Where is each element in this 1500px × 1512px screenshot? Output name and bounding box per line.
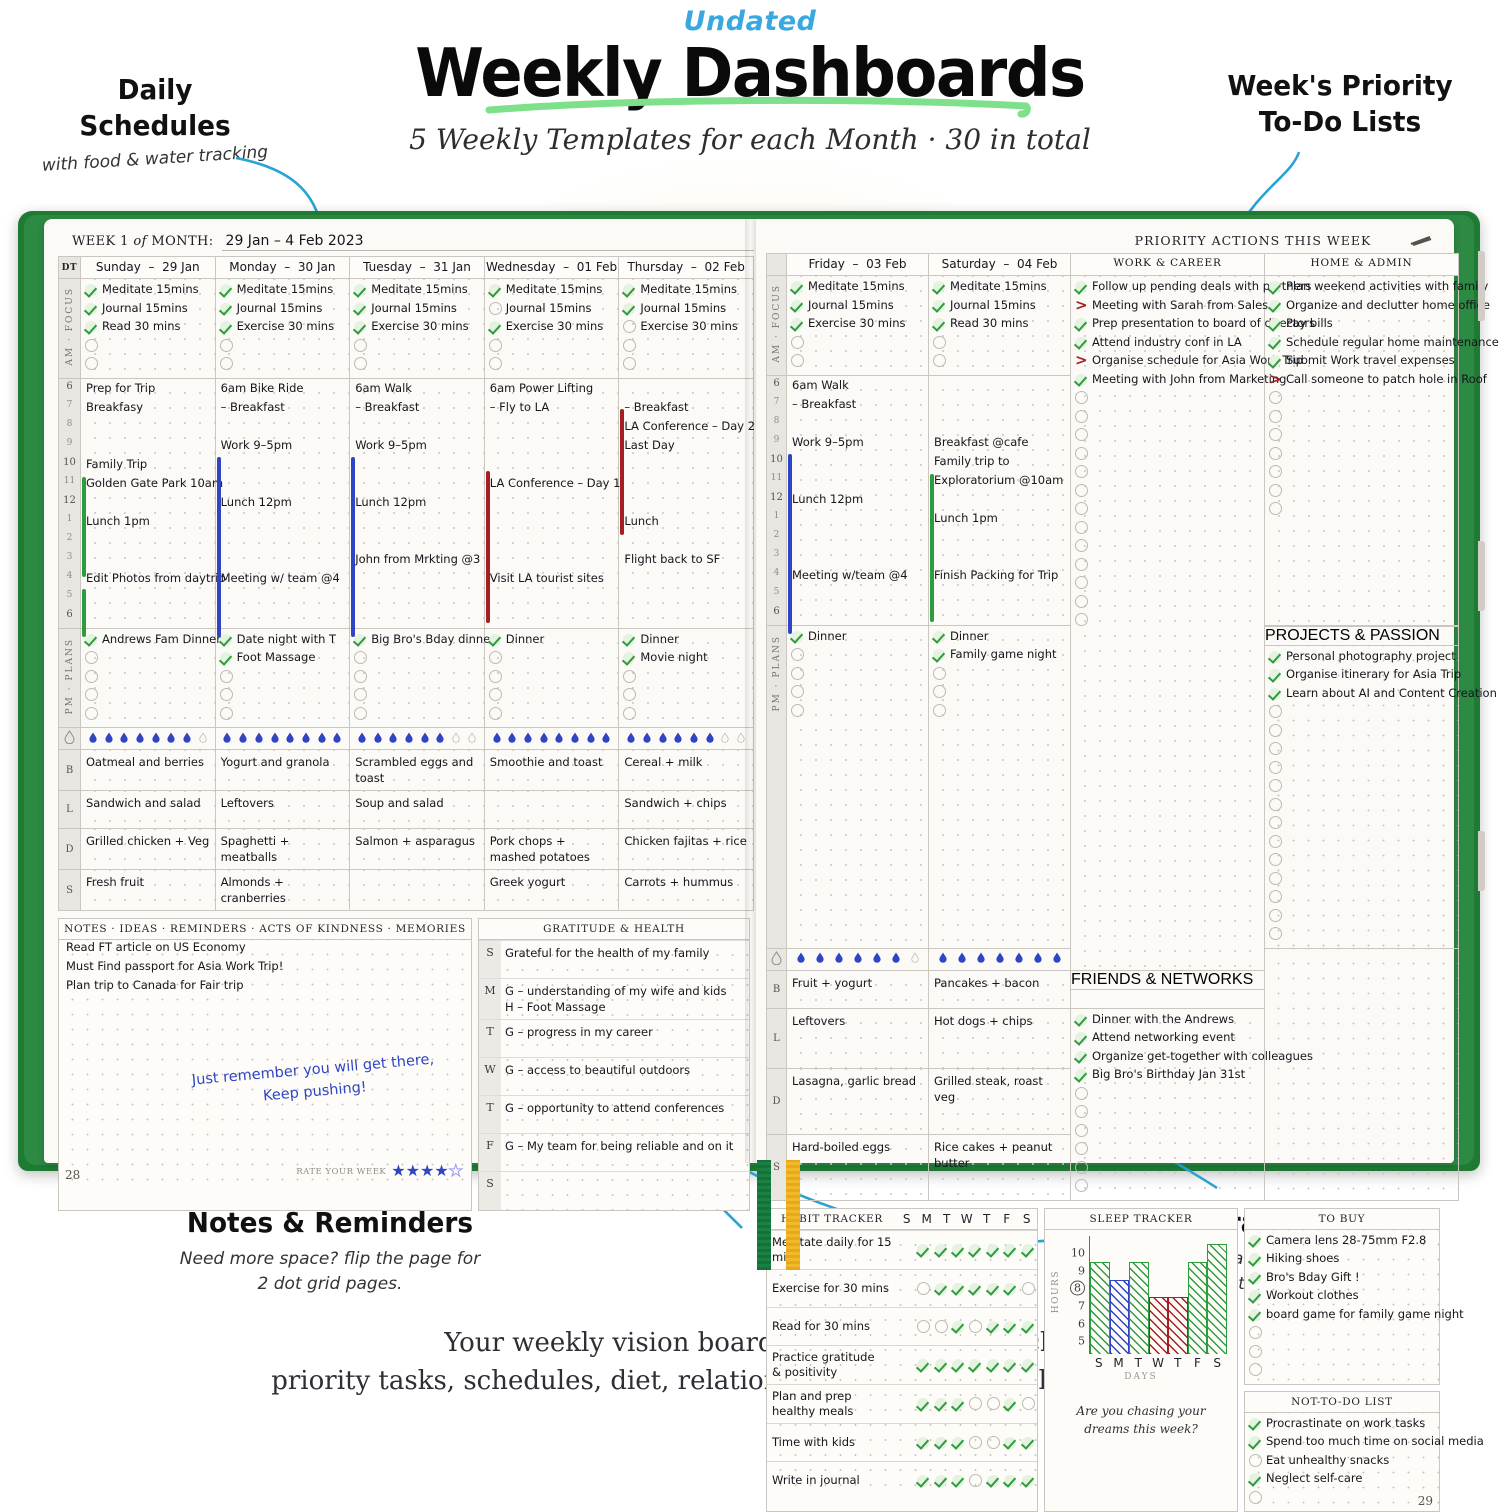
checkmark-icon[interactable] — [987, 1243, 1000, 1256]
meal-cell[interactable]: Yogurt and granola — [215, 750, 350, 791]
checklist-item[interactable] — [85, 669, 212, 688]
checklist-item[interactable]: Read 30 mins — [85, 319, 212, 338]
empty-checkbox-icon[interactable] — [1249, 1363, 1262, 1376]
checklist-item[interactable] — [791, 684, 925, 703]
checkmark-icon[interactable] — [220, 283, 233, 296]
schedule-cell[interactable]: Breakfast @cafeFamily trip toExploratori… — [929, 375, 1071, 625]
checklist-item[interactable] — [1075, 446, 1261, 465]
meal-cell[interactable]: Soup and salad — [350, 791, 485, 829]
water-drop-filled-icon[interactable] — [892, 952, 900, 963]
checkmark-icon[interactable] — [354, 320, 367, 333]
checkmark-icon[interactable] — [1004, 1436, 1017, 1449]
empty-checkbox-icon[interactable] — [791, 336, 804, 349]
checkmark-icon[interactable] — [489, 633, 502, 646]
water-drop-filled-icon[interactable] — [421, 732, 429, 743]
empty-checkbox-icon[interactable] — [1022, 1397, 1035, 1410]
checkmark-icon[interactable] — [791, 317, 804, 330]
checkmark-icon[interactable] — [1004, 1243, 1017, 1256]
checklist-item[interactable] — [489, 356, 616, 375]
page-tab[interactable] — [1478, 251, 1485, 321]
water-drop-filled-icon[interactable] — [405, 732, 413, 743]
checklist-item[interactable]: Procrastinate on work tasks — [1249, 1416, 1436, 1435]
checklist-item[interactable]: Andrews Fam Dinner — [85, 632, 212, 651]
checklist-item[interactable]: Dinner — [489, 632, 616, 651]
page-tab[interactable] — [1478, 831, 1485, 891]
empty-checkbox-icon[interactable] — [1269, 705, 1282, 718]
focus-cell[interactable]: Meditate 15minsJournal 15minsRead 30 min… — [81, 279, 216, 379]
checkmark-icon[interactable] — [952, 1320, 965, 1333]
checklist-item[interactable] — [933, 335, 1067, 354]
schedule-cell[interactable]: 6am Bike Ride– BreakfastWork 9–5pmLunch … — [215, 378, 350, 628]
checklist-item[interactable]: Organize get-together with colleagues — [1075, 1049, 1261, 1068]
habit-name[interactable]: Plan and prephealthy meals — [767, 1384, 915, 1423]
empty-checkbox-icon[interactable] — [489, 357, 502, 370]
priority-work-cell[interactable]: Follow up pending deals with partnersMee… — [1071, 276, 1265, 971]
checklist-item[interactable]: Organise schedule for Asia Work Trip — [1075, 353, 1261, 372]
checkmark-icon[interactable] — [952, 1243, 965, 1256]
checklist-item[interactable]: Schedule regular home maintenance — [1269, 335, 1455, 354]
empty-checkbox-icon[interactable] — [1075, 1161, 1088, 1174]
arrow-marker-icon[interactable] — [1075, 299, 1088, 312]
checklist-item[interactable] — [1075, 483, 1261, 502]
meal-cell[interactable]: Almonds + cranberries — [215, 870, 350, 911]
empty-checkbox-icon[interactable] — [969, 1474, 982, 1487]
empty-checkbox-icon[interactable] — [354, 670, 367, 683]
checkmark-icon[interactable] — [1075, 280, 1088, 293]
water-cell[interactable] — [81, 728, 216, 750]
pm-cell[interactable]: Big Bro's Bday dinner — [350, 628, 485, 728]
habit-marks[interactable] — [915, 1423, 1037, 1461]
checklist-item[interactable] — [933, 353, 1067, 372]
note-line[interactable]: Read FT article on US Economy — [59, 940, 471, 959]
water-drop-filled-icon[interactable] — [152, 732, 160, 743]
checklist-item[interactable] — [1249, 1344, 1436, 1363]
meal-cell[interactable]: Salmon + asparagus — [350, 829, 485, 870]
checkmark-icon[interactable] — [220, 651, 233, 664]
water-drop-filled-icon[interactable] — [555, 732, 563, 743]
checklist-item[interactable] — [1269, 723, 1455, 742]
empty-checkbox-icon[interactable] — [489, 707, 502, 720]
checklist-item[interactable]: Follow up pending deals with partners — [1075, 279, 1261, 298]
checklist-item[interactable] — [85, 706, 212, 725]
empty-checkbox-icon[interactable] — [1269, 909, 1282, 922]
meal-cell[interactable]: Pancakes + bacon — [929, 970, 1071, 1008]
water-drop-filled-icon[interactable] — [374, 732, 382, 743]
checklist-item[interactable] — [1269, 760, 1455, 779]
water-drop-filled-icon[interactable] — [302, 732, 310, 743]
checklist-item[interactable]: Call someone to patch hole in Roof — [1269, 372, 1455, 391]
checklist-item[interactable] — [489, 338, 616, 357]
rate-your-week[interactable]: RATE YOUR WEEK ★★★★★ — [296, 1163, 463, 1181]
checklist-item[interactable] — [791, 647, 925, 666]
water-drop-filled-icon[interactable] — [627, 732, 635, 743]
schedule-cell[interactable]: 6am Walk– BreakfastWork 9–5pmLunch 12pmM… — [787, 375, 929, 625]
checkmark-icon[interactable] — [935, 1474, 948, 1487]
checkmark-icon[interactable] — [1269, 317, 1282, 330]
empty-checkbox-icon[interactable] — [1269, 798, 1282, 811]
checklist-item[interactable]: Journal 15mins — [85, 301, 212, 320]
checklist-item[interactable]: Personal photography project — [1269, 649, 1455, 668]
checkmark-icon[interactable] — [1022, 1320, 1035, 1333]
checklist-item[interactable]: Dinner — [933, 629, 1067, 648]
checklist-item[interactable]: Family game night — [933, 647, 1067, 666]
empty-checkbox-icon[interactable] — [1269, 835, 1282, 848]
checklist-item[interactable]: Journal 15mins — [791, 298, 925, 317]
empty-checkbox-icon[interactable] — [1075, 1105, 1088, 1118]
checklist-item[interactable]: Meditate 15mins — [354, 282, 481, 301]
checklist-item[interactable] — [623, 356, 750, 375]
note-line[interactable]: Must Find passport for Asia Work Trip! — [59, 959, 471, 978]
checklist-item[interactable] — [220, 669, 347, 688]
empty-checkbox-icon[interactable] — [1269, 853, 1282, 866]
day-header-friday[interactable]: Friday – 03 Feb — [787, 254, 929, 276]
checklist-item[interactable] — [1269, 741, 1455, 760]
water-drop-filled-icon[interactable] — [120, 732, 128, 743]
pm-cell[interactable]: Dinner — [484, 628, 619, 728]
empty-checkbox-icon[interactable] — [791, 685, 804, 698]
checklist-item[interactable] — [220, 338, 347, 357]
checkmark-icon[interactable] — [1269, 336, 1282, 349]
checklist-item[interactable] — [791, 353, 925, 372]
day-header-sunday[interactable]: Sunday – 29 Jan — [81, 257, 216, 279]
checkmark-icon[interactable] — [1249, 1417, 1262, 1430]
day-header-wednesday[interactable]: Wednesday – 01 Feb — [484, 257, 619, 279]
water-drop-filled-icon[interactable] — [333, 732, 341, 743]
checklist-item[interactable] — [85, 356, 212, 375]
empty-checkbox-icon[interactable] — [1269, 502, 1282, 515]
empty-checkbox-icon[interactable] — [933, 667, 946, 680]
checklist-item[interactable]: Attend industry conf in LA — [1075, 335, 1261, 354]
priority-home-cell[interactable]: Plan weekend activities with familyOrgan… — [1265, 276, 1459, 626]
checklist-item[interactable]: Big Bro's Bday dinner — [354, 632, 481, 651]
checkmark-icon[interactable] — [917, 1397, 930, 1410]
checklist-item[interactable] — [85, 338, 212, 357]
water-cell[interactable] — [350, 728, 485, 750]
checkmark-icon[interactable] — [935, 1282, 948, 1295]
checklist-item[interactable]: Big Bro's Birthday Jan 31st — [1075, 1067, 1261, 1086]
water-drop-filled-icon[interactable] — [540, 732, 548, 743]
checkmark-icon[interactable] — [1269, 668, 1282, 681]
empty-checkbox-icon[interactable] — [1075, 521, 1088, 534]
checkmark-icon[interactable] — [489, 283, 502, 296]
checkmark-icon[interactable] — [1022, 1243, 1035, 1256]
empty-checkbox-icon[interactable] — [791, 648, 804, 661]
checklist-item[interactable] — [1269, 446, 1455, 465]
checklist-item[interactable] — [1075, 557, 1261, 576]
checklist-item[interactable] — [1075, 1123, 1261, 1142]
empty-checkbox-icon[interactable] — [1269, 872, 1282, 885]
empty-checkbox-icon[interactable] — [623, 357, 636, 370]
checkmark-icon[interactable] — [969, 1282, 982, 1295]
checkmark-icon[interactable] — [1269, 280, 1282, 293]
water-drop-filled-icon[interactable] — [524, 732, 532, 743]
checklist-item[interactable] — [354, 687, 481, 706]
water-drop-filled-icon[interactable] — [659, 732, 667, 743]
empty-checkbox-icon[interactable] — [85, 688, 98, 701]
empty-checkbox-icon[interactable] — [354, 688, 367, 701]
empty-checkbox-icon[interactable] — [933, 354, 946, 367]
checkmark-icon[interactable] — [1249, 1472, 1262, 1485]
checkmark-icon[interactable] — [917, 1436, 930, 1449]
empty-checkbox-icon[interactable] — [917, 1320, 930, 1333]
meal-cell[interactable]: Lasagna, garlic bread — [787, 1069, 929, 1135]
water-drop-empty-icon[interactable] — [452, 732, 460, 743]
checkmark-icon[interactable] — [791, 299, 804, 312]
checkmark-icon[interactable] — [1269, 687, 1282, 700]
checklist-item[interactable]: Read 30 mins — [933, 316, 1067, 335]
empty-checkbox-icon[interactable] — [1269, 465, 1282, 478]
checkmark-icon[interactable] — [1022, 1358, 1035, 1371]
checklist-item[interactable] — [791, 335, 925, 354]
empty-checkbox-icon[interactable] — [220, 670, 233, 683]
day-header-monday[interactable]: Monday – 30 Jan — [215, 257, 350, 279]
meal-cell[interactable]: Leftovers — [787, 1008, 929, 1069]
checklist-item[interactable] — [1269, 889, 1455, 908]
checklist-item[interactable]: Journal 15mins — [489, 301, 616, 320]
empty-checkbox-icon[interactable] — [1075, 558, 1088, 571]
water-drop-filled-icon[interactable] — [996, 952, 1004, 963]
water-drop-filled-icon[interactable] — [797, 952, 805, 963]
empty-checkbox-icon[interactable] — [1269, 484, 1282, 497]
checklist-item[interactable]: Meditate 15mins — [791, 279, 925, 298]
checkmark-icon[interactable] — [354, 633, 367, 646]
habit-name[interactable]: Read for 30 mins — [767, 1307, 915, 1345]
checkmark-icon[interactable] — [987, 1282, 1000, 1295]
checklist-item[interactable] — [1075, 612, 1261, 631]
pm-cell[interactable]: Andrews Fam Dinner — [81, 628, 216, 728]
empty-checkbox-icon[interactable] — [1075, 539, 1088, 552]
checkmark-icon[interactable] — [987, 1358, 1000, 1371]
water-drop-empty-icon[interactable] — [911, 952, 919, 963]
checkmark-icon[interactable] — [933, 648, 946, 661]
habit-marks[interactable] — [915, 1230, 1037, 1269]
empty-checkbox-icon[interactable] — [220, 688, 233, 701]
checkmark-icon[interactable] — [1269, 650, 1282, 663]
checklist-item[interactable] — [354, 356, 481, 375]
meal-cell[interactable]: Smoothie and toast — [484, 750, 619, 791]
checklist-item[interactable]: Bro's Bday Gift ! — [1249, 1270, 1436, 1289]
checklist-item[interactable] — [1269, 464, 1455, 483]
checklist-item[interactable] — [1075, 1178, 1261, 1197]
focus-cell[interactable]: Meditate 15minsJournal 15minsRead 30 min… — [929, 276, 1071, 376]
checkmark-icon[interactable] — [220, 302, 233, 315]
water-drop-empty-icon[interactable] — [199, 732, 207, 743]
checkmark-icon[interactable] — [791, 630, 804, 643]
habit-marks[interactable] — [915, 1384, 1037, 1423]
checklist-item[interactable] — [354, 669, 481, 688]
water-drop-filled-icon[interactable] — [873, 952, 881, 963]
focus-cell[interactable]: Meditate 15minsJournal 15minsExercise 30… — [350, 279, 485, 379]
checklist-item[interactable] — [354, 706, 481, 725]
checklist-item[interactable]: Workout clothes — [1249, 1288, 1436, 1307]
habit-marks[interactable] — [915, 1269, 1037, 1307]
empty-checkbox-icon[interactable] — [85, 707, 98, 720]
checkmark-icon[interactable] — [1249, 1289, 1262, 1302]
empty-checkbox-icon[interactable] — [1075, 1087, 1088, 1100]
meal-cell[interactable]: Chicken fajitas + rice — [619, 829, 754, 870]
water-drop-filled-icon[interactable] — [389, 732, 397, 743]
checkmark-icon[interactable] — [935, 1397, 948, 1410]
water-drop-filled-icon[interactable] — [255, 732, 263, 743]
water-drop-filled-icon[interactable] — [318, 732, 326, 743]
gratitude-text[interactable]: G – progress in my career — [501, 1020, 749, 1058]
water-drop-filled-icon[interactable] — [1034, 952, 1042, 963]
checklist-item[interactable] — [1075, 575, 1261, 594]
checkmark-icon[interactable] — [917, 1474, 930, 1487]
water-drop-filled-icon[interactable] — [854, 952, 862, 963]
water-drop-filled-icon[interactable] — [835, 952, 843, 963]
checkmark-icon[interactable] — [1075, 1031, 1088, 1044]
checklist-item[interactable]: Meditate 15mins — [489, 282, 616, 301]
empty-checkbox-icon[interactable] — [354, 357, 367, 370]
water-drop-filled-icon[interactable] — [1015, 952, 1023, 963]
arrow-marker-icon[interactable] — [1075, 354, 1088, 367]
empty-checkbox-icon[interactable] — [987, 1436, 1000, 1449]
checklist-item[interactable]: Learn about AI and Content Creation — [1269, 686, 1455, 705]
checklist-item[interactable] — [489, 706, 616, 725]
checkmark-icon[interactable] — [85, 302, 98, 315]
empty-checkbox-icon[interactable] — [1075, 447, 1088, 460]
checkmark-icon[interactable] — [1249, 1271, 1262, 1284]
empty-checkbox-icon[interactable] — [987, 1397, 1000, 1410]
checklist-item[interactable]: Eat unhealthy snacks — [1249, 1453, 1436, 1472]
checklist-item[interactable] — [1075, 1086, 1261, 1105]
checklist-item[interactable]: Foot Massage — [220, 650, 347, 669]
empty-checkbox-icon[interactable] — [1249, 1345, 1262, 1358]
empty-checkbox-icon[interactable] — [933, 704, 946, 717]
empty-checkbox-icon[interactable] — [791, 667, 804, 680]
gratitude-text[interactable] — [501, 1172, 749, 1210]
checklist-item[interactable] — [1269, 871, 1455, 890]
water-drop-filled-icon[interactable] — [167, 732, 175, 743]
focus-cell[interactable]: Meditate 15minsJournal 15minsExercise 30… — [215, 279, 350, 379]
star-icon[interactable]: ★ — [434, 1163, 448, 1180]
checklist-item[interactable] — [1269, 778, 1455, 797]
empty-checkbox-icon[interactable] — [1075, 428, 1088, 441]
star-icon[interactable]: ★ — [406, 1163, 420, 1180]
empty-checkbox-icon[interactable] — [1269, 724, 1282, 737]
empty-checkbox-icon[interactable] — [623, 670, 636, 683]
checklist-item[interactable]: Exercise 30 mins — [489, 319, 616, 338]
empty-checkbox-icon[interactable] — [623, 688, 636, 701]
empty-checkbox-icon[interactable] — [85, 339, 98, 352]
meal-cell[interactable] — [484, 791, 619, 829]
water-drop-filled-icon[interactable] — [271, 732, 279, 743]
checklist-item[interactable] — [1075, 464, 1261, 483]
checkmark-icon[interactable] — [935, 1436, 948, 1449]
empty-checkbox-icon[interactable] — [1269, 447, 1282, 460]
checklist-item[interactable] — [623, 669, 750, 688]
meal-cell[interactable]: Greek yogurt — [484, 870, 619, 911]
checklist-item[interactable] — [85, 650, 212, 669]
checklist-item[interactable]: Hiking shoes — [1249, 1251, 1436, 1270]
empty-checkbox-icon[interactable] — [623, 707, 636, 720]
checklist-item[interactable] — [1075, 427, 1261, 446]
checklist-item[interactable] — [1269, 834, 1455, 853]
checklist-item[interactable] — [1269, 483, 1455, 502]
empty-checkbox-icon[interactable] — [1075, 465, 1088, 478]
empty-checkbox-icon[interactable] — [1269, 428, 1282, 441]
checkmark-icon[interactable] — [1249, 1234, 1262, 1247]
empty-checkbox-icon[interactable] — [489, 688, 502, 701]
checkmark-icon[interactable] — [933, 280, 946, 293]
checklist-item[interactable]: Exercise 30 mins — [220, 319, 347, 338]
checklist-item[interactable] — [1075, 390, 1261, 409]
empty-checkbox-icon[interactable] — [1269, 391, 1282, 404]
checklist-item[interactable]: Journal 15mins — [933, 298, 1067, 317]
checklist-item[interactable]: Organise itinerary for Asia Trip — [1269, 667, 1455, 686]
checkmark-icon[interactable] — [1249, 1308, 1262, 1321]
checkmark-icon[interactable] — [1075, 373, 1088, 386]
checklist-item[interactable] — [1269, 926, 1455, 945]
water-drop-filled-icon[interactable] — [602, 732, 610, 743]
checklist-item[interactable] — [1269, 815, 1455, 834]
checkmark-icon[interactable] — [952, 1436, 965, 1449]
meal-cell[interactable]: Sandwich + chips — [619, 791, 754, 829]
empty-checkbox-icon[interactable] — [489, 302, 502, 315]
empty-checkbox-icon[interactable] — [1249, 1491, 1262, 1504]
gratitude-text[interactable]: Grateful for the health of my family — [501, 941, 749, 979]
checkmark-icon[interactable] — [969, 1243, 982, 1256]
meal-cell[interactable]: Sandwich and salad — [81, 791, 216, 829]
meal-cell[interactable]: Fresh fruit — [81, 870, 216, 911]
checkmark-icon[interactable] — [1075, 1013, 1088, 1026]
checklist-item[interactable]: Date night with T — [220, 632, 347, 651]
water-drop-filled-icon[interactable] — [571, 732, 579, 743]
pm-cell[interactable]: DinnerFamily game night — [929, 625, 1071, 948]
checklist-item[interactable]: Meditate 15mins — [623, 282, 750, 301]
schedule-cell[interactable]: Prep for TripBreakfasyFamily TripGolden … — [81, 378, 216, 628]
checklist-item[interactable] — [1249, 1490, 1436, 1509]
empty-checkbox-icon[interactable] — [85, 670, 98, 683]
empty-checkbox-icon[interactable] — [354, 339, 367, 352]
gratitude-text[interactable]: G – opportunity to attend conferences — [501, 1096, 749, 1134]
checklist-item[interactable] — [1249, 1325, 1436, 1344]
meal-cell[interactable]: Spaghetti + meatballs — [215, 829, 350, 870]
empty-checkbox-icon[interactable] — [969, 1397, 982, 1410]
water-drop-filled-icon[interactable] — [690, 732, 698, 743]
page-tab[interactable] — [1478, 541, 1485, 611]
checklist-item[interactable]: Pay bills — [1269, 316, 1455, 335]
checklist-item[interactable] — [623, 706, 750, 725]
checkmark-icon[interactable] — [85, 633, 98, 646]
empty-checkbox-icon[interactable] — [220, 357, 233, 370]
week-range-input[interactable]: 29 Jan – 4 Feb 2023 — [222, 233, 754, 251]
priority-friends-list[interactable]: Dinner with the AndrewsAttend networking… — [1071, 1008, 1265, 1200]
checklist-item[interactable] — [623, 687, 750, 706]
meal-cell[interactable]: Hot dogs + chips — [929, 1008, 1071, 1069]
empty-checkbox-icon[interactable] — [1075, 410, 1088, 423]
empty-checkbox-icon[interactable] — [1075, 484, 1088, 497]
water-cell[interactable] — [787, 948, 929, 970]
checklist-item[interactable]: Plan weekend activities with family — [1269, 279, 1455, 298]
empty-checkbox-icon[interactable] — [85, 651, 98, 664]
checklist-item[interactable] — [354, 338, 481, 357]
meal-cell[interactable]: Scrambled eggs and toast — [350, 750, 485, 791]
empty-checkbox-icon[interactable] — [1075, 613, 1088, 626]
schedule-cell[interactable]: 6am Power Lifting– Fly to LALA Conferenc… — [484, 378, 619, 628]
checklist-item[interactable] — [1075, 538, 1261, 557]
checkmark-icon[interactable] — [1004, 1474, 1017, 1487]
meal-cell[interactable]: Carrots + hummus — [619, 870, 754, 911]
empty-checkbox-icon[interactable] — [969, 1436, 982, 1449]
schedule-cell[interactable]: 6am Walk– BreakfastWork 9–5pmLunch 12pmJ… — [350, 378, 485, 628]
checkmark-icon[interactable] — [1075, 317, 1088, 330]
water-drop-filled-icon[interactable] — [286, 732, 294, 743]
checklist-item[interactable]: Movie night — [623, 650, 750, 669]
checklist-item[interactable]: Exercise 30 mins — [791, 316, 925, 335]
checklist-item[interactable]: Exercise 30 mins — [623, 319, 750, 338]
